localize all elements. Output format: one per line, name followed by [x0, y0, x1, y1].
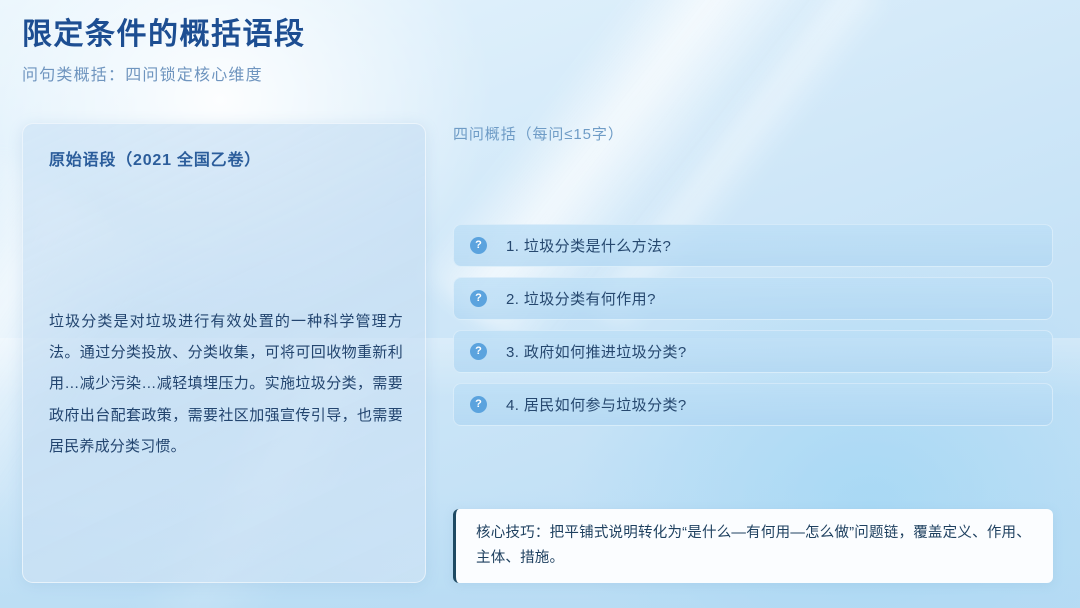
questions-panel-label: 四问概括（每问≤15字）: [453, 123, 1053, 144]
key-technique-callout: 核心技巧：把平铺式说明转化为“是什么—有何用—怎么做”问题链，覆盖定义、作用、主…: [453, 509, 1053, 583]
question-text: 4. 居民如何参与垃圾分类?: [506, 394, 687, 415]
question-mark-icon: ?: [470, 290, 487, 307]
question-row[interactable]: ? 2. 垃圾分类有何作用?: [453, 277, 1053, 320]
slide-header: 限定条件的概括语段 问句类概括：四问锁定核心维度: [22, 16, 662, 86]
question-row[interactable]: ? 1. 垃圾分类是什么方法?: [453, 224, 1053, 267]
question-mark-icon: ?: [470, 237, 487, 254]
source-passage-title: 原始语段（2021 全国乙卷）: [49, 146, 399, 170]
question-row[interactable]: ? 3. 政府如何推进垃圾分类?: [453, 330, 1053, 373]
source-passage-card: 原始语段（2021 全国乙卷） 垃圾分类是对垃圾进行有效处置的一种科学管理方法。…: [22, 123, 426, 583]
question-text: 2. 垃圾分类有何作用?: [506, 288, 656, 309]
question-mark-icon: ?: [470, 396, 487, 413]
page-subtitle: 问句类概括：四问锁定核心维度: [22, 66, 662, 87]
question-text: 1. 垃圾分类是什么方法?: [506, 235, 671, 256]
source-passage-body: 垃圾分类是对垃圾进行有效处置的一种科学管理方法。通过分类投放、分类收集，可将可回…: [49, 306, 403, 462]
question-text: 3. 政府如何推进垃圾分类?: [506, 341, 687, 362]
question-mark-icon: ?: [470, 343, 487, 360]
question-row[interactable]: ? 4. 居民如何参与垃圾分类?: [453, 383, 1053, 426]
questions-panel-header: 四问概括（每问≤15字）: [453, 123, 1053, 144]
question-list: ? 1. 垃圾分类是什么方法? ? 2. 垃圾分类有何作用? ? 3. 政府如何…: [453, 224, 1053, 426]
key-technique-text: 核心技巧：把平铺式说明转化为“是什么—有何用—怎么做”问题链，覆盖定义、作用、主…: [476, 521, 1031, 572]
page-title: 限定条件的概括语段: [22, 16, 662, 54]
slide-canvas: 限定条件的概括语段 问句类概括：四问锁定核心维度 原始语段（2021 全国乙卷）…: [0, 0, 1080, 608]
